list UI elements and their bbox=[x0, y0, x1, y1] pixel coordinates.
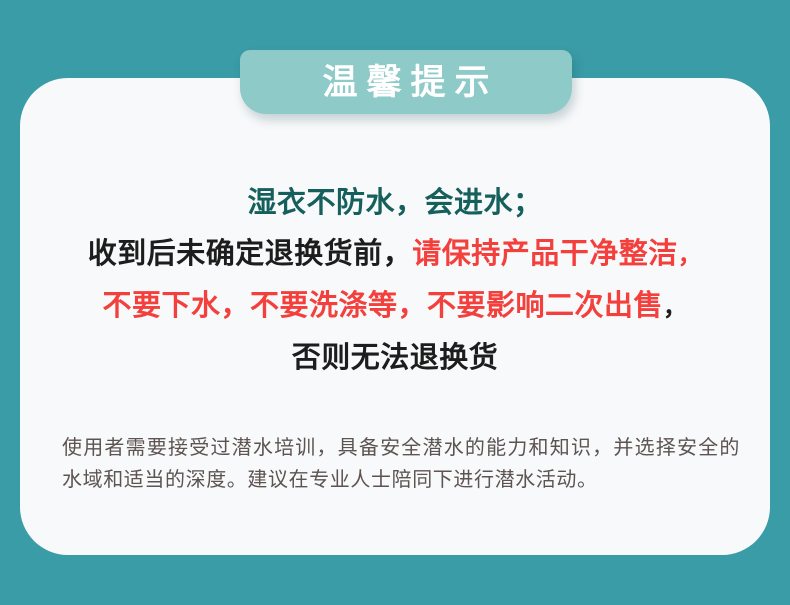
headline-segment: 否则无法退换货 bbox=[292, 342, 499, 374]
headline-segment: 湿衣不防水，会进水； bbox=[247, 187, 542, 219]
promo-notice-banner: 温馨提示 湿衣不防水，会进水； 收到后未确定退换货前，请保持产品干净整洁， 不要… bbox=[0, 0, 790, 605]
headline-segment-punctuation: ， bbox=[663, 294, 688, 321]
headline-line-3: 不要下水，不要洗涤等，不要影响二次出售， bbox=[20, 281, 770, 333]
headline-line-2: 收到后未确定退换货前，请保持产品干净整洁， bbox=[20, 229, 770, 281]
headline-segment: 收到后未确定退换货前， bbox=[88, 238, 413, 270]
headline-segment-punctuation: ， bbox=[678, 242, 703, 269]
headline-segment: 请保持产品干净整洁 bbox=[412, 238, 678, 270]
headline-segment: 不要下水，不要洗涤等，不要影响二次出售 bbox=[102, 290, 663, 322]
headline-line-1: 湿衣不防水，会进水； bbox=[20, 178, 770, 229]
usage-note-paragraph: 使用者需要接受过潜水培训，具备安全潜水的能力和知识，并选择安全的水域和适当的深度… bbox=[62, 432, 740, 496]
headline-line-4: 否则无法退换货 bbox=[20, 333, 770, 384]
headline-block: 湿衣不防水，会进水； 收到后未确定退换货前，请保持产品干净整洁， 不要下水，不要… bbox=[20, 178, 770, 384]
notice-title-text: 温馨提示 bbox=[313, 65, 498, 100]
notice-title-badge: 温馨提示 bbox=[240, 50, 572, 114]
